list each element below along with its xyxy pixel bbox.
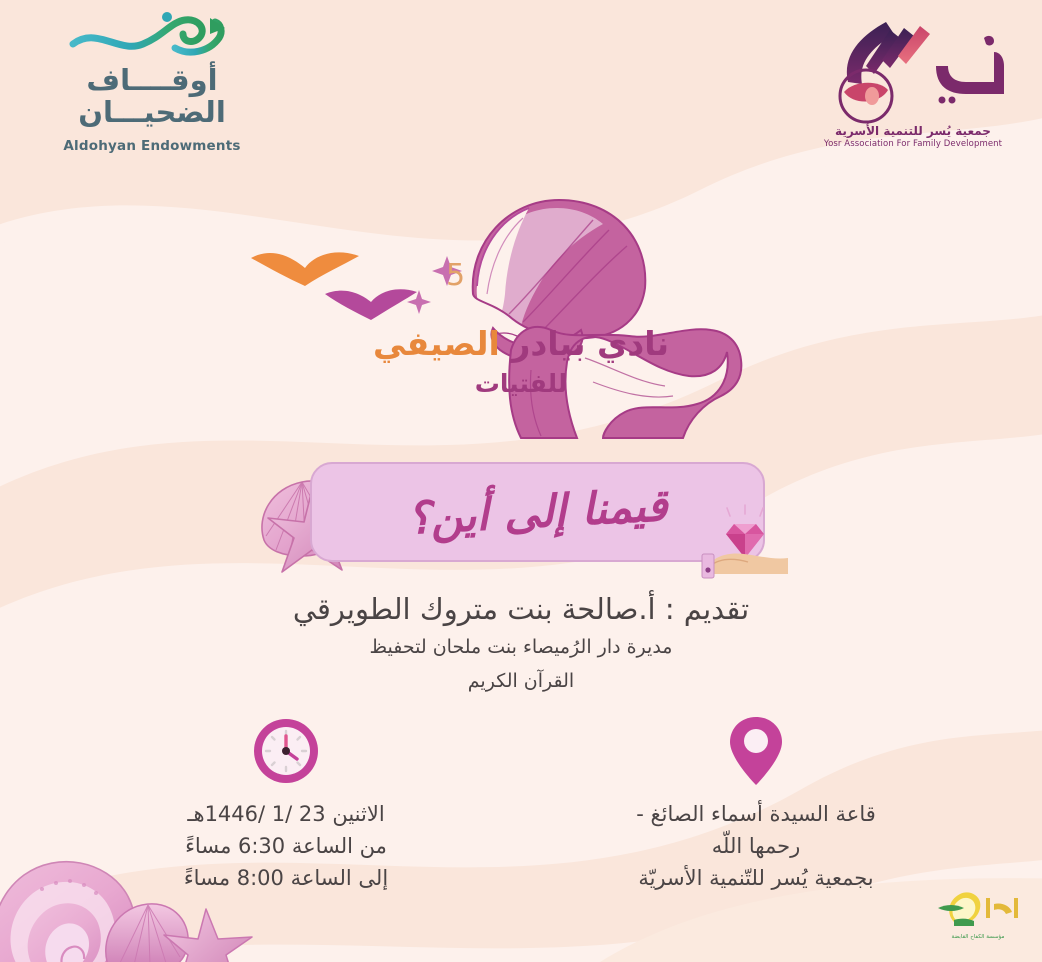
lecture-title-banner: قيمنا إلى أين؟: [310, 462, 765, 562]
al-kifah-logo: مؤسسة الكفاح القابضة: [932, 888, 1024, 946]
schedule-block: الاثنين 23 /1 /1446هـ من الساعة 6:30 مسا…: [146, 712, 426, 895]
lecture-title: قيمنا إلى أين؟: [406, 480, 669, 545]
yosr-arabic-tagline: جمعية يُسر للتنمية الأسرية: [798, 124, 1028, 138]
club-title-main: نادي بيادر: [511, 324, 669, 363]
presenter-title-line1: مديرة دار الرُميصاء بنت ملحان لتحفيظ: [0, 633, 1042, 662]
hijab-girl-illustration: [241, 190, 801, 440]
venue-line2: بجمعية يُسر للتّنمية الأسريّة: [616, 863, 896, 895]
club-title-block: نادي بيادر الصيفي للفتيات: [0, 325, 1042, 398]
club-title-sub: الصيفي: [373, 324, 500, 363]
event-details: الاثنين 23 /1 /1446هـ من الساعة 6:30 مسا…: [0, 712, 1042, 895]
presenter-block: تقديم : أ.صالحة بنت متروك الطويرقي مديرة…: [0, 590, 1042, 696]
aldohyan-arabic-line1: أوقــــاف: [22, 65, 282, 97]
presenter-name: تقديم : أ.صالحة بنت متروك الطويرقي: [0, 590, 1042, 629]
venue-line1: قاعة السيدة أسماء الصائغ - رحمها اللّه: [616, 799, 896, 863]
hijab-shape: [473, 200, 646, 338]
aldohyan-endowments-logo: أوقــــاف الضحيـــان Aldohyan Endowments: [22, 8, 282, 154]
event-start-time: من الساعة 6:30 مساءً: [146, 831, 426, 863]
aldohyan-english-name: Aldohyan Endowments: [22, 138, 282, 154]
event-poster: أوقــــاف الضحيـــان Aldohyan Endowments: [0, 0, 1042, 962]
club-illustration-group: [0, 190, 1042, 440]
yosr-association-logo: جمعية يُسر للتنمية الأسرية Yosr Associat…: [798, 8, 1028, 149]
bird-icon-orange: [251, 252, 359, 286]
banner-section: قيمنا إلى أين؟: [0, 462, 1042, 582]
diamond-icon: [726, 505, 764, 558]
clock-icon: [250, 715, 322, 787]
bird-icon-pink: [325, 289, 417, 320]
map-pin-icon: [726, 713, 786, 789]
yosr-english-tagline: Yosr Association For Family Development: [798, 139, 1028, 149]
al-kifah-subtitle: مؤسسة الكفاح القابضة: [932, 934, 1024, 940]
event-date: الاثنين 23 /1 /1446هـ: [146, 799, 426, 831]
al-kifah-mark: [932, 888, 1024, 928]
aldohyan-arabic-line2: الضحيـــان: [22, 97, 282, 129]
hand-holding-diamond-icon: [700, 500, 790, 580]
club-audience-label: للفتيات: [0, 369, 1042, 398]
yosr-logo-mark: [808, 8, 1018, 128]
presenter-title-line2: القرآن الكريم: [0, 667, 1042, 696]
location-block: قاعة السيدة أسماء الصائغ - رحمها اللّه ب…: [616, 712, 896, 895]
aldohyan-swoosh-icon: [67, 8, 237, 63]
event-end-time: إلى الساعة 8:00 مساءً: [146, 863, 426, 895]
club-edition-number: 5: [446, 258, 465, 293]
